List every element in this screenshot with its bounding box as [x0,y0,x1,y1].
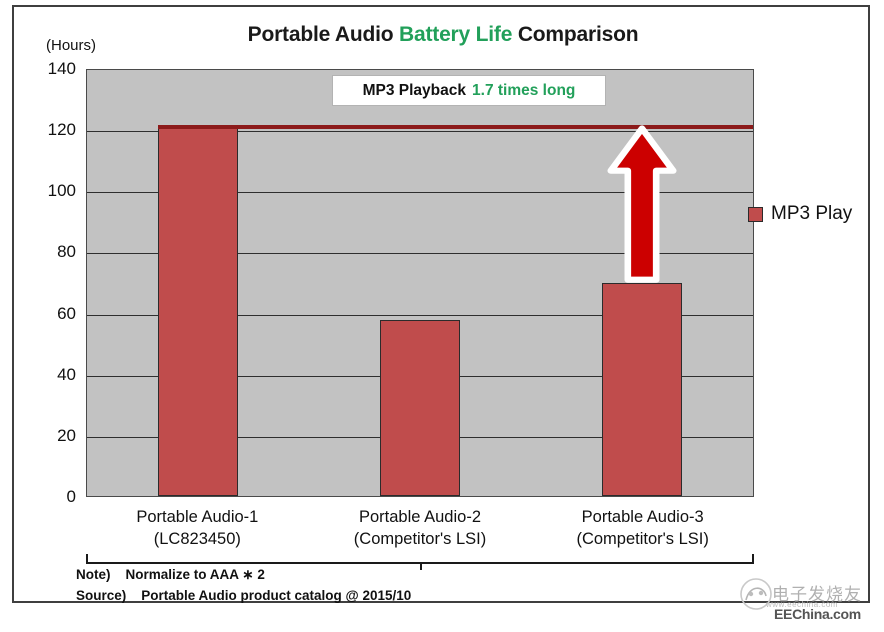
y-tick-120: 120 [16,120,76,140]
y-tick-80: 80 [16,242,76,262]
chart-title: Portable Audio Battery Life Comparison [14,23,872,47]
bar-portable-audio-3[interactable] [602,283,682,496]
x-category-0: Portable Audio-1 (LC823450) [86,507,309,557]
footnotes: Note) Normalize to AAA ∗ 2 Source) Porta… [76,565,411,607]
watermark-brand-text: EEChina.com [774,606,861,622]
chart-title-tail: Comparison [518,23,639,46]
y-tick-100: 100 [16,181,76,201]
growth-arrow-icon [607,125,677,283]
x-category-0-line2: (LC823450) [86,529,309,551]
footnote-source-text: Portable Audio product catalog @ 2015/10 [141,588,411,603]
y-tick-0: 0 [16,487,76,507]
y-axis-tick-labels: 140 120 100 80 60 40 20 0 [14,69,76,497]
footnote-note: Note) Normalize to AAA ∗ 2 [76,565,411,586]
y-tick-60: 60 [16,304,76,324]
x-category-1-line2: (Competitor's LSI) [309,529,532,551]
reference-line [158,125,753,129]
y-tick-140: 140 [16,59,76,79]
y-axis-unit-label: (Hours) [46,37,96,54]
plot-area [86,69,754,497]
footnote-source-key: Source) [76,586,126,607]
legend-label-mp3-play: MP3 Play [771,203,852,225]
x-axis-bracket-tick [420,562,422,570]
footnote-note-text: Normalize to AAA ∗ 2 [126,567,265,582]
legend-swatch-mp3-play [748,207,763,222]
y-tick-40: 40 [16,365,76,385]
bar-portable-audio-1[interactable] [158,125,238,496]
x-category-2-line2: (Competitor's LSI) [531,529,754,551]
footnote-source: Source) Portable Audio product catalog @… [76,586,411,607]
chart-title-accent: Battery Life [399,23,512,46]
chart-title-lead: Portable Audio [248,23,394,46]
x-axis-category-labels: Portable Audio-1 (LC823450) Portable Aud… [86,507,754,557]
x-category-0-line1: Portable Audio-1 [86,507,309,529]
x-axis-category-bracket [86,554,754,564]
x-category-1-line1: Portable Audio-2 [309,507,532,529]
bar-portable-audio-2[interactable] [380,320,460,496]
y-tick-20: 20 [16,426,76,446]
chart-frame: Portable Audio Battery Life Comparison (… [12,5,870,603]
callout-annotation: MP3 Playback 1.7 times long [332,75,606,106]
x-category-1: Portable Audio-2 (Competitor's LSI) [309,507,532,557]
callout-lead: MP3 Playback [363,82,466,100]
x-category-2: Portable Audio-3 (Competitor's LSI) [531,507,754,557]
footnote-note-key: Note) [76,565,111,586]
callout-accent: 1.7 times long [472,82,575,100]
x-category-2-line1: Portable Audio-3 [531,507,754,529]
legend: MP3 Play [748,203,852,225]
